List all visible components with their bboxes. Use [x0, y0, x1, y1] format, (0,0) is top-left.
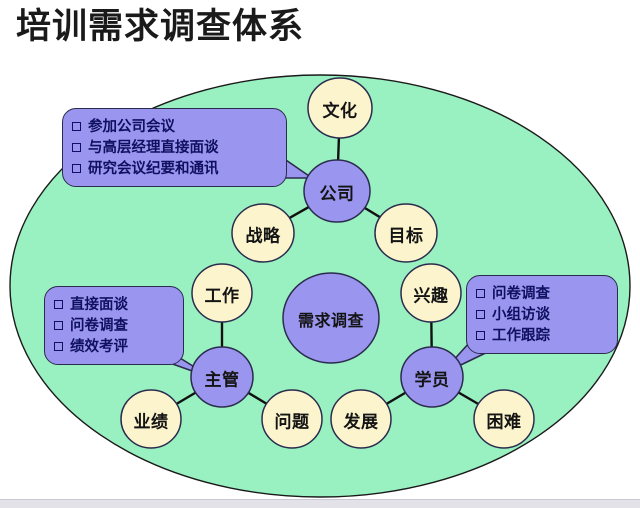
- diagram-canvas: [0, 0, 640, 508]
- node-gongsi[interactable]: [304, 160, 370, 222]
- node-mubiao[interactable]: [375, 204, 437, 262]
- node-xingqu[interactable]: [401, 264, 461, 322]
- callout-item: 小组访谈: [476, 304, 607, 325]
- square-bullet-icon: [72, 143, 81, 152]
- square-bullet-icon: [54, 342, 63, 351]
- square-bullet-icon: [72, 164, 81, 173]
- callout-item: 绩效考评: [54, 336, 173, 357]
- edge-wenhua-to-gongsi: [338, 137, 339, 161]
- callout-item-label: 参加公司会议: [88, 116, 175, 137]
- callout-item-label: 与高层经理直接面谈: [88, 137, 219, 158]
- node-xueyuan[interactable]: [401, 347, 463, 407]
- node-xuqiu[interactable]: [283, 273, 379, 363]
- callout-item: 问卷调查: [54, 315, 173, 336]
- slide-page: 培训需求调查体系 文化公司目标战略需求调查工作主管兴趣学员业绩问题发展困难 参加…: [0, 0, 640, 508]
- square-bullet-icon: [54, 300, 63, 309]
- callout-item-label: 绩效考评: [70, 336, 128, 357]
- callout-item-label: 研究会议纪要和通讯: [88, 158, 219, 179]
- square-bullet-icon: [476, 331, 485, 340]
- callout-item-label: 问卷调查: [70, 315, 128, 336]
- node-zhanlue[interactable]: [232, 204, 294, 262]
- square-bullet-icon: [54, 321, 63, 330]
- square-bullet-icon: [476, 289, 485, 298]
- callout-item: 问卷调查: [476, 283, 607, 304]
- callout-item-label: 小组访谈: [492, 304, 550, 325]
- callout-item-label: 直接面谈: [70, 294, 128, 315]
- callout-item-label: 工作跟踪: [492, 325, 550, 346]
- node-wenti[interactable]: [262, 390, 322, 448]
- callout-supervisor[interactable]: 直接面谈问卷调查绩效考评: [44, 286, 184, 365]
- node-wenhua[interactable]: [308, 78, 372, 138]
- node-kunnan[interactable]: [474, 390, 534, 448]
- callout-item: 研究会议纪要和通讯: [72, 158, 276, 179]
- bottom-status-bar: [0, 499, 640, 508]
- callout-item: 直接面谈: [54, 294, 173, 315]
- node-zhuguan[interactable]: [191, 347, 253, 407]
- callout-item: 工作跟踪: [476, 325, 607, 346]
- node-fazhan[interactable]: [331, 390, 391, 448]
- callout-item: 参加公司会议: [72, 116, 276, 137]
- callout-company[interactable]: 参加公司会议与高层经理直接面谈研究会议纪要和通讯: [62, 108, 287, 187]
- node-yeji[interactable]: [121, 390, 181, 448]
- node-gongzuo[interactable]: [192, 264, 252, 322]
- callout-trainee[interactable]: 问卷调查小组访谈工作跟踪: [466, 275, 618, 354]
- callout-item: 与高层经理直接面谈: [72, 137, 276, 158]
- callout-item-label: 问卷调查: [492, 283, 550, 304]
- square-bullet-icon: [476, 310, 485, 319]
- square-bullet-icon: [72, 122, 81, 131]
